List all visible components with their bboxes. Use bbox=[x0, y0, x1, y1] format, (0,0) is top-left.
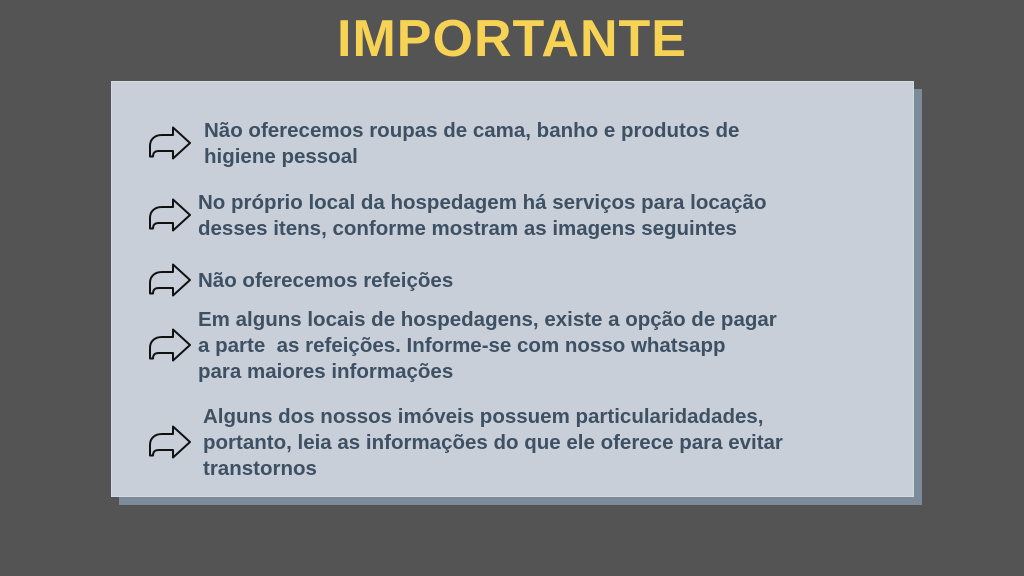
list-item: Não oferecemos roupas de cama, banho e p… bbox=[146, 118, 739, 170]
curved-right-arrow-icon bbox=[146, 124, 194, 164]
curved-right-arrow-icon bbox=[146, 326, 194, 366]
list-item: Em alguns locais de hospedagens, existe … bbox=[146, 307, 777, 385]
page-title: IMPORTANTE bbox=[0, 12, 1024, 67]
curved-right-arrow-icon bbox=[146, 261, 194, 301]
list-item: No próprio local da hospedagem há serviç… bbox=[146, 190, 767, 242]
list-item: Não oferecemos refeições bbox=[146, 261, 453, 301]
curved-right-arrow-icon bbox=[146, 196, 194, 236]
content-card: Não oferecemos roupas de cama, banho e p… bbox=[111, 81, 914, 497]
list-item-label: Alguns dos nossos imóveis possuem partic… bbox=[198, 404, 783, 482]
list-item-label: No próprio local da hospedagem há serviç… bbox=[198, 190, 767, 242]
list-item-label: Não oferecemos refeições bbox=[198, 268, 453, 294]
list-item: Alguns dos nossos imóveis possuem partic… bbox=[146, 404, 783, 482]
curved-right-arrow-icon bbox=[146, 423, 194, 463]
bullet-list: Não oferecemos roupas de cama, banho e p… bbox=[134, 98, 891, 486]
list-item-label: Em alguns locais de hospedagens, existe … bbox=[198, 307, 777, 385]
list-item-label: Não oferecemos roupas de cama, banho e p… bbox=[198, 118, 739, 170]
